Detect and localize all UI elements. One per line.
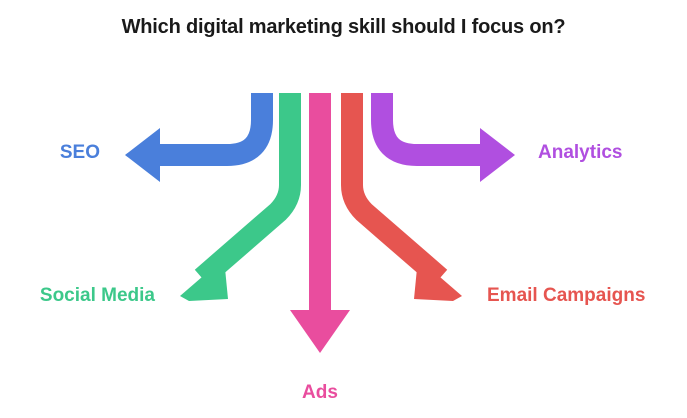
arrow-email-campaigns-shaft [352,93,440,278]
arrow-seo-shaft [143,93,262,155]
arrow-analytics-shaft [382,93,497,155]
arrow-social-media-shaft [202,93,290,278]
arrow-layer [0,0,687,418]
node-label-email-campaigns: Email Campaigns [487,285,682,307]
arrow-email-campaigns [352,93,462,301]
arrow-seo [125,93,262,182]
diagram-canvas: Which digital marketing skill should I f… [0,0,687,418]
arrow-social-media [180,93,290,301]
node-label-seo: SEO [10,142,100,164]
arrow-analytics [382,93,515,182]
node-label-analytics: Analytics [538,142,687,164]
node-label-social-media: Social Media [0,285,155,307]
arrow-seo-head [125,128,160,182]
arrow-analytics-head [480,128,515,182]
arrow-ads-head [290,310,350,353]
node-label-ads: Ads [265,382,375,404]
